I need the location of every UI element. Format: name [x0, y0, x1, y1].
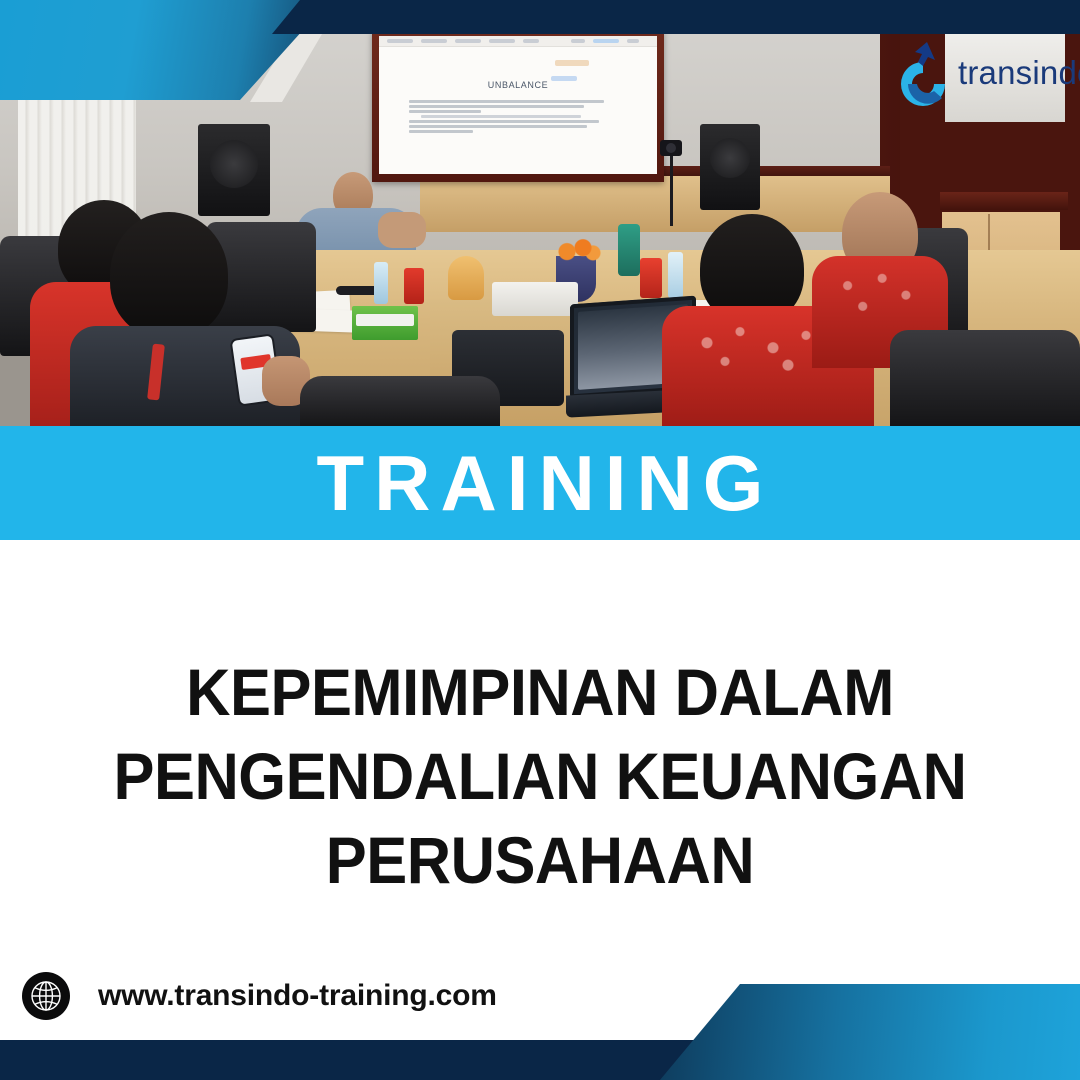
- title-line-3: PERUSAHAAN: [38, 818, 1042, 902]
- presenter-arm: [378, 212, 426, 248]
- printer-device: [492, 282, 578, 316]
- snack-can: [640, 258, 662, 298]
- thermos-bottle: [618, 224, 640, 276]
- title-line-1: KEPEMIMPINAN DALAM: [38, 650, 1042, 734]
- cabinet-rail: [940, 192, 1068, 210]
- office-chair: [300, 376, 500, 426]
- slide-heading: UNBALANCE: [379, 80, 657, 90]
- footer-website-row[interactable]: www.transindo-training.com: [22, 972, 497, 1020]
- flowers: [552, 236, 602, 262]
- office-chair: [890, 330, 1080, 426]
- desk-lamp: [448, 256, 484, 300]
- tissue-box-label: [356, 314, 414, 326]
- video-camera: [660, 140, 682, 156]
- wall-wood-panel: [420, 176, 890, 232]
- training-banner: TRAINING: [0, 426, 1080, 540]
- transindo-logo[interactable]: transindo: [888, 34, 1074, 112]
- banner-title: TRAINING: [307, 444, 774, 522]
- projection-screen: UNBALANCE: [379, 36, 657, 174]
- batik-pattern: [826, 266, 934, 322]
- globe-icon: [22, 972, 70, 1020]
- camera-tripod: [670, 156, 673, 226]
- water-bottle: [668, 252, 683, 298]
- snack-can: [404, 268, 424, 304]
- loudspeaker-left: [198, 124, 270, 216]
- transindo-swoosh-arrow-logo-icon: [888, 38, 962, 108]
- slide-app-toolbar: [379, 36, 657, 47]
- participant-head: [110, 212, 228, 338]
- loudspeaker-right: [700, 124, 760, 210]
- website-url[interactable]: www.transindo-training.com: [98, 979, 497, 1013]
- slide-bullets: [409, 98, 619, 135]
- water-bottle: [374, 262, 388, 304]
- poster-root: UNBALANCE: [0, 0, 1080, 1080]
- bottom-right-gradient-shape: [660, 984, 1080, 1080]
- page-title: KEPEMIMPINAN DALAM PENGENDALIAN KEUANGAN…: [0, 650, 1080, 902]
- title-line-2: PENGENDALIAN KEUANGAN: [38, 734, 1042, 818]
- transindo-logo-text: transindo: [958, 54, 1080, 92]
